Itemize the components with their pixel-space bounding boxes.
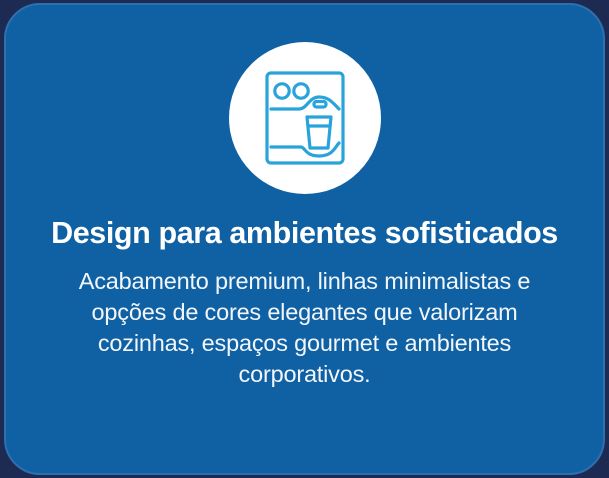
icon-badge (229, 42, 381, 194)
feature-card: Design para ambientes sofisticados Acaba… (4, 3, 605, 475)
card-description: Acabamento premium, linhas minimalistas … (40, 266, 569, 390)
water-dispenser-icon (257, 68, 353, 168)
card-text-block: Design para ambientes sofisticados Acaba… (6, 194, 603, 390)
card-title: Design para ambientes sofisticados (40, 216, 569, 252)
